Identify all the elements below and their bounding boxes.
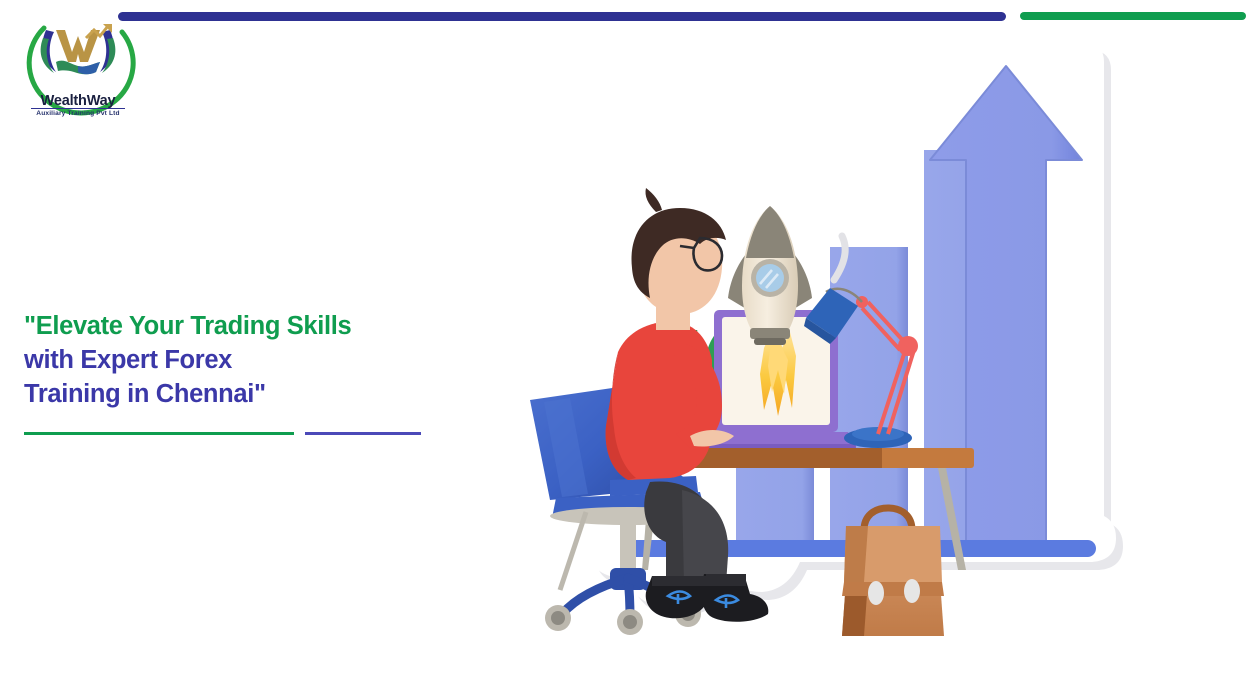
headline-underline-blue: [305, 432, 421, 435]
briefcase: [842, 508, 944, 636]
top-rule-green: [1020, 12, 1246, 20]
chair-post: [620, 516, 636, 572]
headline: "Elevate Your Trading Skills with Expert…: [24, 310, 454, 412]
briefcase-latch-right: [904, 579, 920, 603]
headline-line-1: "Elevate Your Trading Skills: [24, 310, 454, 344]
person-shirt: [606, 322, 712, 480]
illustration-svg: [500, 30, 1140, 670]
brand-logo[interactable]: WealthWay Auxiliary Training Pvt Ltd: [8, 12, 148, 124]
logo-handshake-arrow-icon: [34, 22, 122, 84]
headline-line-2: with Expert Forex: [24, 344, 454, 378]
forex-trader-growth-illustration: [500, 30, 1140, 670]
top-rule-blue: [118, 12, 1006, 21]
briefcase-latch-left: [868, 581, 884, 605]
headline-line-3: Training in Chennai": [24, 378, 454, 412]
headline-underline-green: [24, 432, 294, 435]
logo-tagline: Auxiliary Training Pvt Ltd: [8, 111, 148, 118]
logo-name: WealthWay: [8, 94, 148, 109]
marketing-banner: WealthWay Auxiliary Training Pvt Ltd "El…: [0, 0, 1260, 699]
